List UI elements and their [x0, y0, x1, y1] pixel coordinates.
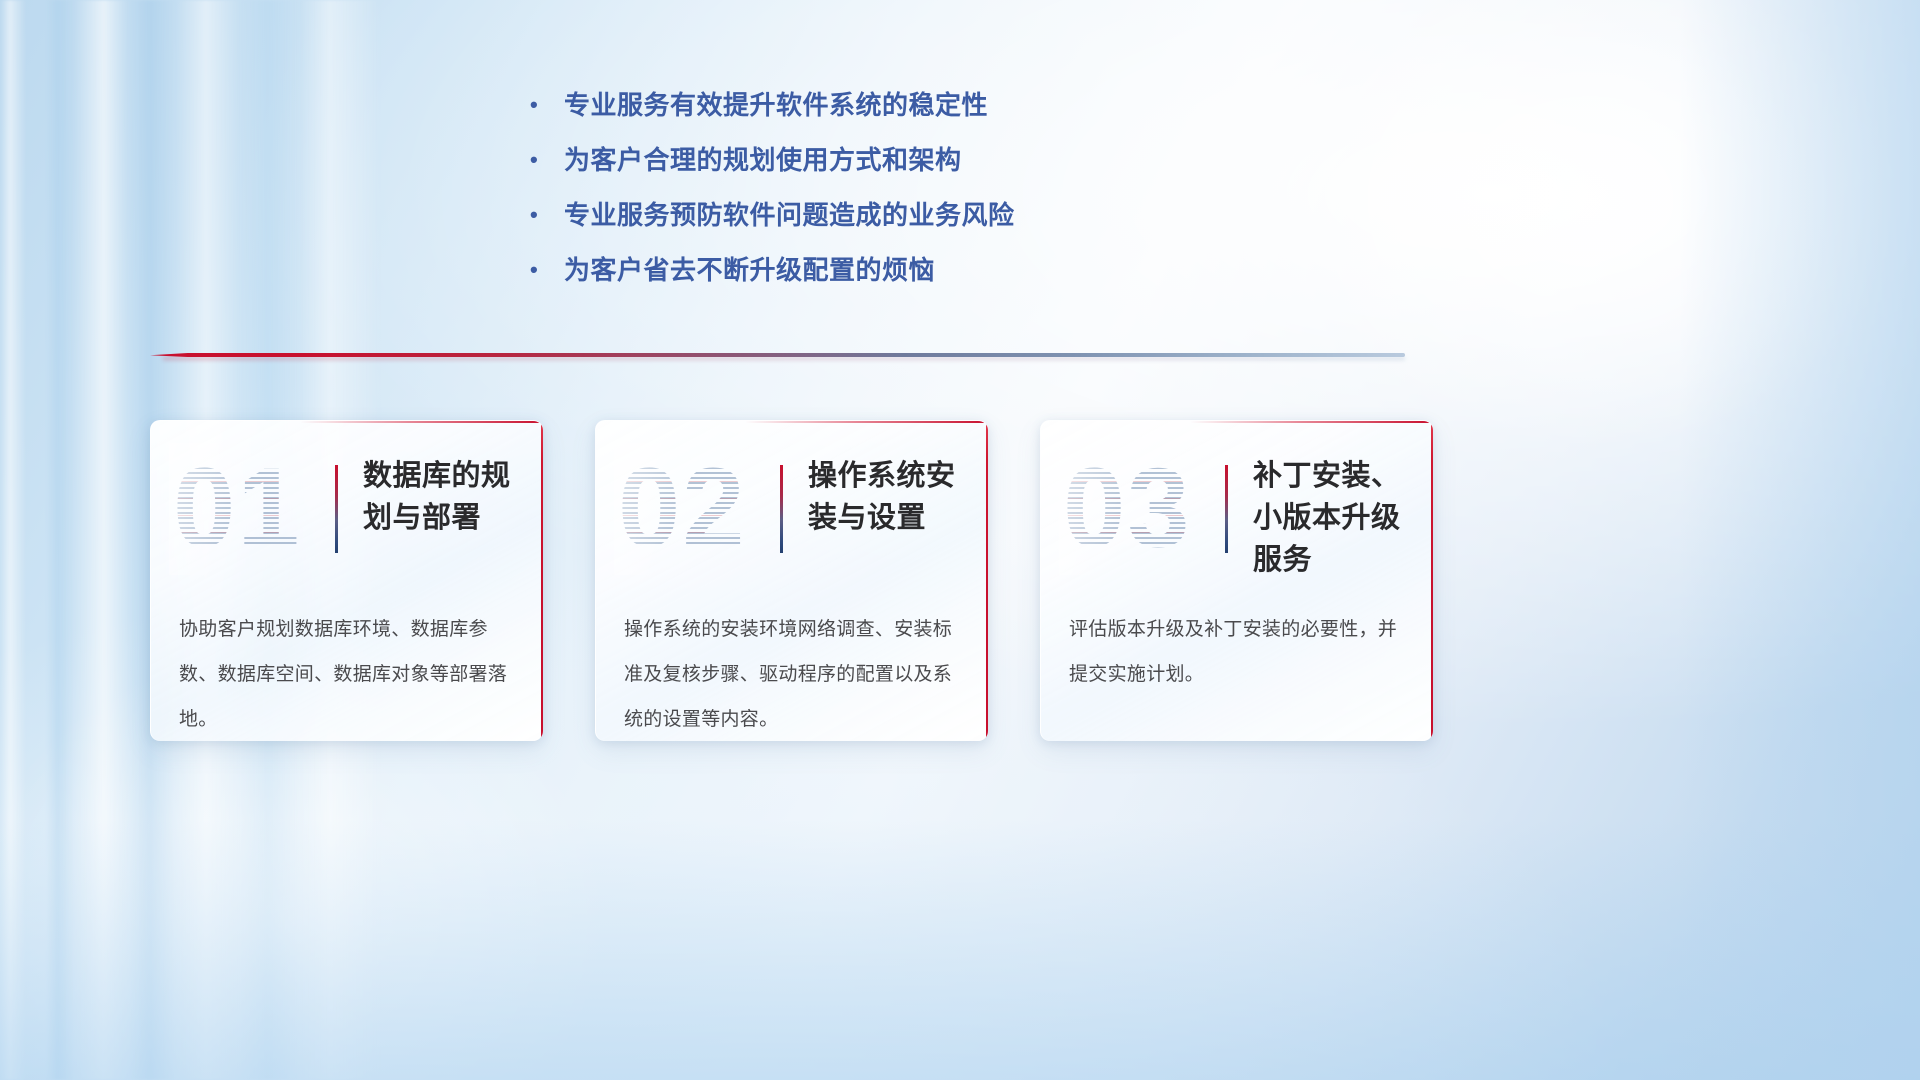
list-item: • 为客户合理的规划使用方式和架构 — [530, 143, 1230, 177]
card-body-text: 协助客户规划数据库环境、数据库参数、数据库空间、数据库对象等部署落地。 — [179, 607, 511, 741]
bullet-text: 专业服务有效提升软件系统的稳定性 — [564, 88, 1230, 122]
bullet-dot-icon: • — [530, 198, 564, 232]
card-title-divider-bar — [335, 465, 338, 553]
background-tint-right — [1680, 0, 1920, 1080]
background-tint-bottom — [0, 820, 1920, 1080]
divider-line — [150, 353, 1405, 357]
card-title: 数据库的规划与部署 — [363, 455, 531, 539]
service-card-group: 01 01 数据库的规划与部署 协助客户规划数据库环境、数据库参数、数据库空间、… — [150, 420, 1433, 741]
section-divider — [150, 349, 1405, 361]
bullet-text: 专业服务预防软件问题造成的业务风险 — [564, 198, 1230, 232]
card-title-divider-bar — [780, 465, 783, 553]
bullet-text: 为客户合理的规划使用方式和架构 — [564, 143, 1230, 177]
bullet-text: 为客户省去不断升级配置的烦恼 — [564, 253, 1230, 287]
divider-shadow — [163, 357, 1405, 360]
bullet-dot-icon: • — [530, 253, 564, 287]
bullet-dot-icon: • — [530, 143, 564, 177]
card-body-text: 评估版本升级及补丁安装的必要性，并提交实施计划。 — [1069, 607, 1401, 697]
card-title-divider-bar — [1225, 465, 1228, 553]
card-header: 01 01 数据库的规划与部署 — [151, 421, 543, 599]
card-number-ghost: 03 — [1063, 447, 1213, 569]
list-item: • 专业服务有效提升软件系统的稳定性 — [530, 88, 1230, 122]
card-number-ghost: 02 — [618, 447, 768, 569]
list-item: • 为客户省去不断升级配置的烦恼 — [530, 253, 1230, 287]
card-header: 03 03 补丁安装、小版本升级服务 — [1041, 421, 1433, 599]
card-title: 操作系统安装与设置 — [808, 455, 976, 539]
bullet-dot-icon: • — [530, 88, 564, 122]
list-item: • 专业服务预防软件问题造成的业务风险 — [530, 198, 1230, 232]
benefits-bullet-list: • 专业服务有效提升软件系统的稳定性 • 为客户合理的规划使用方式和架构 • 专… — [530, 88, 1230, 308]
service-card-02[interactable]: 02 02 操作系统安装与设置 操作系统的安装环境网络调查、安装标准及复核步骤、… — [595, 420, 988, 741]
card-body-text: 操作系统的安装环境网络调查、安装标准及复核步骤、驱动程序的配置以及系统的设置等内… — [624, 607, 956, 741]
card-header: 02 02 操作系统安装与设置 — [596, 421, 988, 599]
card-number-ghost: 01 — [173, 447, 323, 569]
card-title: 补丁安装、小版本升级服务 — [1253, 455, 1421, 581]
service-card-03[interactable]: 03 03 补丁安装、小版本升级服务 评估版本升级及补丁安装的必要性，并提交实施… — [1040, 420, 1433, 741]
service-card-01[interactable]: 01 01 数据库的规划与部署 协助客户规划数据库环境、数据库参数、数据库空间、… — [150, 420, 543, 741]
